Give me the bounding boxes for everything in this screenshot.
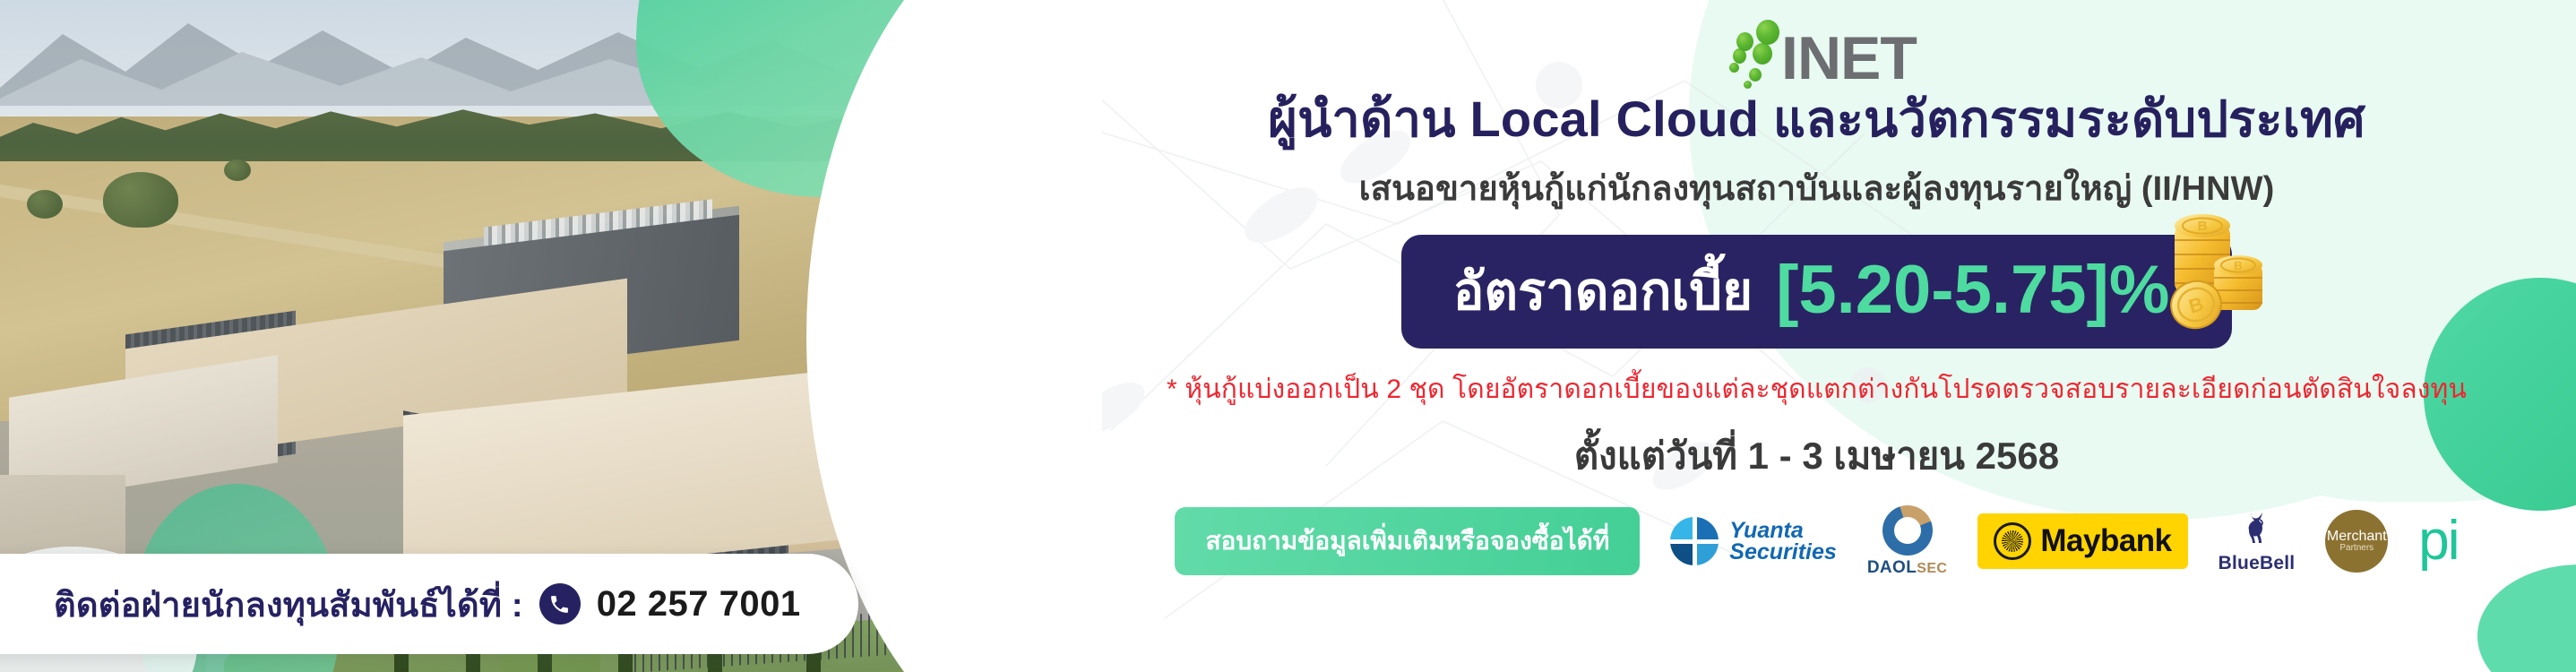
promo-content: INET ผู้นำด้าน Local Cloud และนวัตกรรมระ… bbox=[1057, 0, 2576, 672]
daol-pie-icon bbox=[1882, 505, 1933, 556]
yuanta-wordmark: Yuanta Securities bbox=[1729, 520, 1837, 563]
daol-suffix: SEC bbox=[1917, 561, 1947, 576]
interest-rate-box: อัตราดอกเบี้ย [5.20-5.75]% bbox=[1401, 235, 2233, 349]
merchant-circle-icon: Merchant Partners bbox=[2325, 510, 2388, 573]
partners-row: สอบถามข้อมูลเพิ่มเติมหรือจองซื้อได้ที่ Y… bbox=[1175, 505, 2458, 578]
pi-wordmark: pi bbox=[2418, 519, 2458, 564]
maybank-tiger-icon bbox=[1994, 522, 2031, 560]
partner-logo-bluebell[interactable]: BlueBell bbox=[2218, 509, 2296, 574]
contact-phone-number: 02 257 7001 bbox=[597, 584, 801, 625]
gold-coins-icon: B B B bbox=[2144, 204, 2279, 339]
yuanta-line2: Securities bbox=[1729, 539, 1837, 564]
partner-logo-merchant-partners[interactable]: Merchant Partners bbox=[2325, 510, 2388, 573]
page-subtitle: เสนอขายหุ้นกู้แก่นักลงทุนสถาบันและผู้ลงท… bbox=[1359, 160, 2275, 215]
merchant-line2: Partners bbox=[2339, 544, 2374, 553]
partner-logo-daolsec[interactable]: DAOLSEC bbox=[1867, 505, 1948, 578]
phone-icon bbox=[539, 583, 581, 625]
offering-period: ตั้งแต่วันที่ 1 - 3 เมษายน 2568 bbox=[1574, 426, 2059, 486]
maybank-wordmark: Maybank bbox=[2040, 523, 2171, 559]
merchant-line1: Merchant bbox=[2327, 530, 2387, 544]
partner-logo-pi[interactable]: pi bbox=[2418, 519, 2458, 564]
daol-name: DAOL bbox=[1867, 558, 1917, 577]
partner-logo-maybank[interactable]: Maybank bbox=[1977, 513, 2187, 569]
bluebell-deer-icon bbox=[2238, 509, 2274, 551]
contact-label: ติดต่อฝ่ายนักลงทุนสัมพันธ์ได้ที่ : bbox=[54, 577, 523, 632]
bluebell-wordmark: BlueBell bbox=[2218, 553, 2296, 574]
bond-disclaimer-note: * หุ้นกู้แบ่งออกเป็น 2 ชุด โดยอัตราดอกเบ… bbox=[1167, 368, 2467, 410]
small-tree bbox=[27, 190, 63, 219]
small-tree bbox=[224, 159, 251, 181]
svg-text:B: B bbox=[2198, 219, 2208, 234]
interest-rate-label: อัตราดอกเบี้ย bbox=[1453, 249, 1753, 332]
investor-relations-contact[interactable]: ติดต่อฝ่ายนักลงทุนสัมพันธ์ได้ที่ : 02 25… bbox=[0, 554, 858, 654]
svg-text:B: B bbox=[2235, 259, 2243, 272]
interest-rate-value: [5.20-5.75]% bbox=[1776, 256, 2169, 324]
partner-logo-yuanta[interactable]: Yuanta Securities bbox=[1670, 517, 1837, 565]
large-tree bbox=[103, 172, 178, 228]
page-title: ผู้นำด้าน Local Cloud และนวัตกรรมระดับปร… bbox=[1268, 91, 2365, 148]
inet-wordmark: INET bbox=[1781, 32, 1917, 86]
inet-logo: INET bbox=[1717, 16, 1917, 86]
inquiry-cta-button[interactable]: สอบถามข้อมูลเพิ่มเติมหรือจองซื้อได้ที่ bbox=[1175, 507, 1640, 575]
daol-wordmark: DAOLSEC bbox=[1867, 558, 1948, 578]
interest-rate-highlight: อัตราดอกเบี้ย [5.20-5.75]% bbox=[1401, 235, 2233, 349]
inet-bond-offering-banner: ติดต่อฝ่ายนักลงทุนสัมพันธ์ได้ที่ : 02 25… bbox=[0, 0, 2576, 672]
yuanta-star-icon bbox=[1670, 517, 1719, 565]
inet-dots-icon bbox=[1717, 16, 1787, 86]
